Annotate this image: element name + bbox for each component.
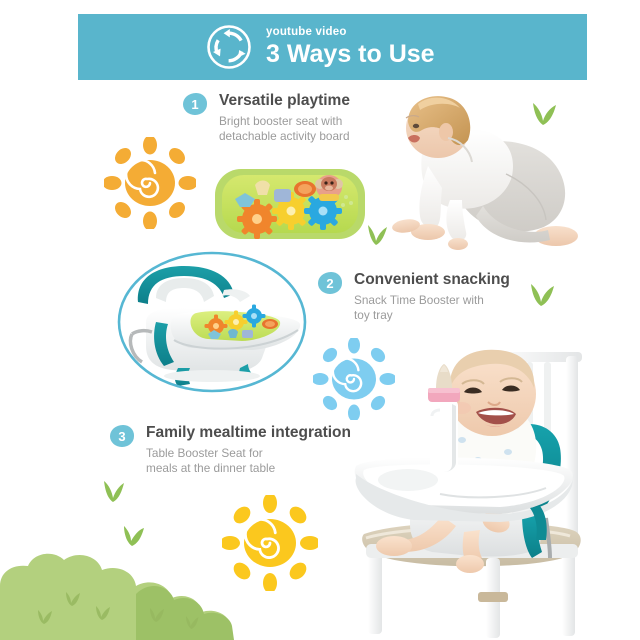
feature-item-3: 3 Family mealtime integration Table Boos… xyxy=(110,424,351,476)
bush-silhouette xyxy=(0,520,640,640)
feature-text-1: Versatile playtime Bright booster seat w… xyxy=(219,92,350,144)
banner-kicker: youtube video xyxy=(266,26,435,39)
feature-item-2: 2 Convenient snacking Snack Time Booster… xyxy=(318,271,510,323)
feature-badge-2: 2 xyxy=(318,272,342,294)
infographic-page: youtube video 3 Ways to Use xyxy=(0,0,640,640)
photo-crawling-baby xyxy=(388,88,628,260)
banner-title: 3 Ways to Use xyxy=(266,40,435,68)
feature-title-2: Convenient snacking xyxy=(354,271,510,289)
photo-activity-board xyxy=(213,163,368,243)
feature-desc-2: Snack Time Booster with toy tray xyxy=(354,293,510,323)
leaf-sprout-icon xyxy=(527,280,557,310)
feature-badge-1: 1 xyxy=(183,93,207,115)
feature-desc-3: Table Booster Seat for meals at the dinn… xyxy=(146,446,351,476)
leaf-sprout-icon xyxy=(100,478,128,506)
refresh-cycle-icon xyxy=(206,24,252,70)
banner-text-group: youtube video 3 Ways to Use xyxy=(266,26,435,68)
feature-badge-3: 3 xyxy=(110,425,134,447)
sun-orange-left-icon xyxy=(104,137,196,229)
feature-item-1: 1 Versatile playtime Bright booster seat… xyxy=(183,92,350,144)
feature-text-3: Family mealtime integration Table Booste… xyxy=(146,424,351,476)
feature-title-1: Versatile playtime xyxy=(219,92,350,110)
leaf-sprout-icon xyxy=(529,99,559,129)
header-banner: youtube video 3 Ways to Use xyxy=(78,14,587,80)
feature-desc-1: Bright booster seat with detachable acti… xyxy=(219,114,350,144)
feature-text-2: Convenient snacking Snack Time Booster w… xyxy=(354,271,510,323)
feature-title-3: Family mealtime integration xyxy=(146,424,351,442)
photo-booster-seat-inset xyxy=(112,250,312,398)
